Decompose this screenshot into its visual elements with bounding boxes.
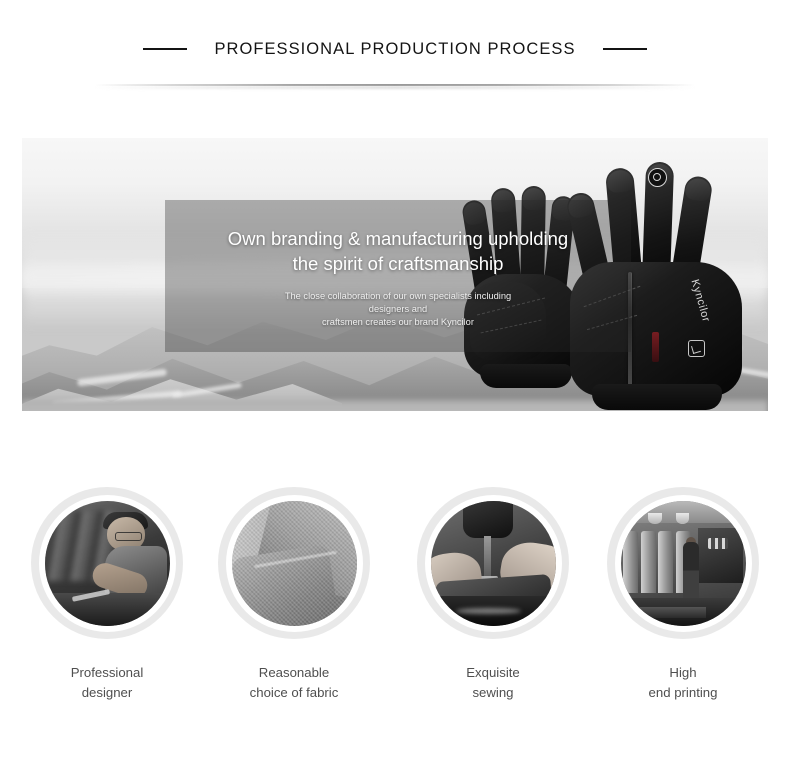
feature-image-choice-of-fabric (232, 501, 357, 626)
feature-card-high-end-printing[interactable]: High end printing (607, 487, 759, 703)
glove-accent-tab (652, 332, 659, 362)
feature-image-exquisite-sewing (431, 501, 556, 626)
feature-thumb-ring (31, 487, 183, 639)
title-dash-right-icon (603, 48, 647, 50)
banner-subcopy: The close collaboration of our own speci… (198, 290, 598, 329)
feature-card-exquisite-sewing[interactable]: Exquisite sewing (417, 487, 569, 703)
feature-card-row: Professional designer Reasonable choice … (0, 487, 790, 717)
feature-caption: Professional designer (71, 663, 144, 703)
feature-caption: High end printing (649, 663, 718, 703)
title-divider (95, 84, 695, 86)
feature-thumb-gap (425, 495, 562, 632)
touchscreen-fingertip-icon (648, 168, 667, 187)
section-title-row: PROFESSIONAL PRODUCTION PROCESS (0, 34, 790, 64)
banner-background-image: Kyncilor Own branding & manufacturing up… (22, 138, 768, 411)
feature-thumb-gap (615, 495, 752, 632)
feature-thumb-gap (226, 495, 363, 632)
feature-caption: Exquisite sewing (466, 663, 520, 703)
feature-card-professional-designer[interactable]: Professional designer (31, 487, 183, 703)
glove-brand-logo-icon (688, 340, 705, 357)
page-title: PROFESSIONAL PRODUCTION PROCESS (214, 41, 575, 58)
banner-copy: Own branding & manufacturing upholding t… (165, 200, 631, 352)
feature-image-professional-designer (45, 501, 170, 626)
feature-image-high-end-printing (621, 501, 746, 626)
feature-thumb-ring (607, 487, 759, 639)
title-dash-left-icon (143, 48, 187, 50)
feature-thumb-ring (218, 487, 370, 639)
banner-headline: Own branding & manufacturing upholding t… (183, 226, 613, 276)
feature-card-reasonable-choice-of-fabric[interactable]: Reasonable choice of fabric (218, 487, 370, 703)
hero-banner: Kyncilor Own branding & manufacturing up… (22, 138, 768, 411)
feature-caption: Reasonable choice of fabric (250, 663, 339, 703)
feature-thumb-gap (39, 495, 176, 632)
feature-thumb-ring (417, 487, 569, 639)
